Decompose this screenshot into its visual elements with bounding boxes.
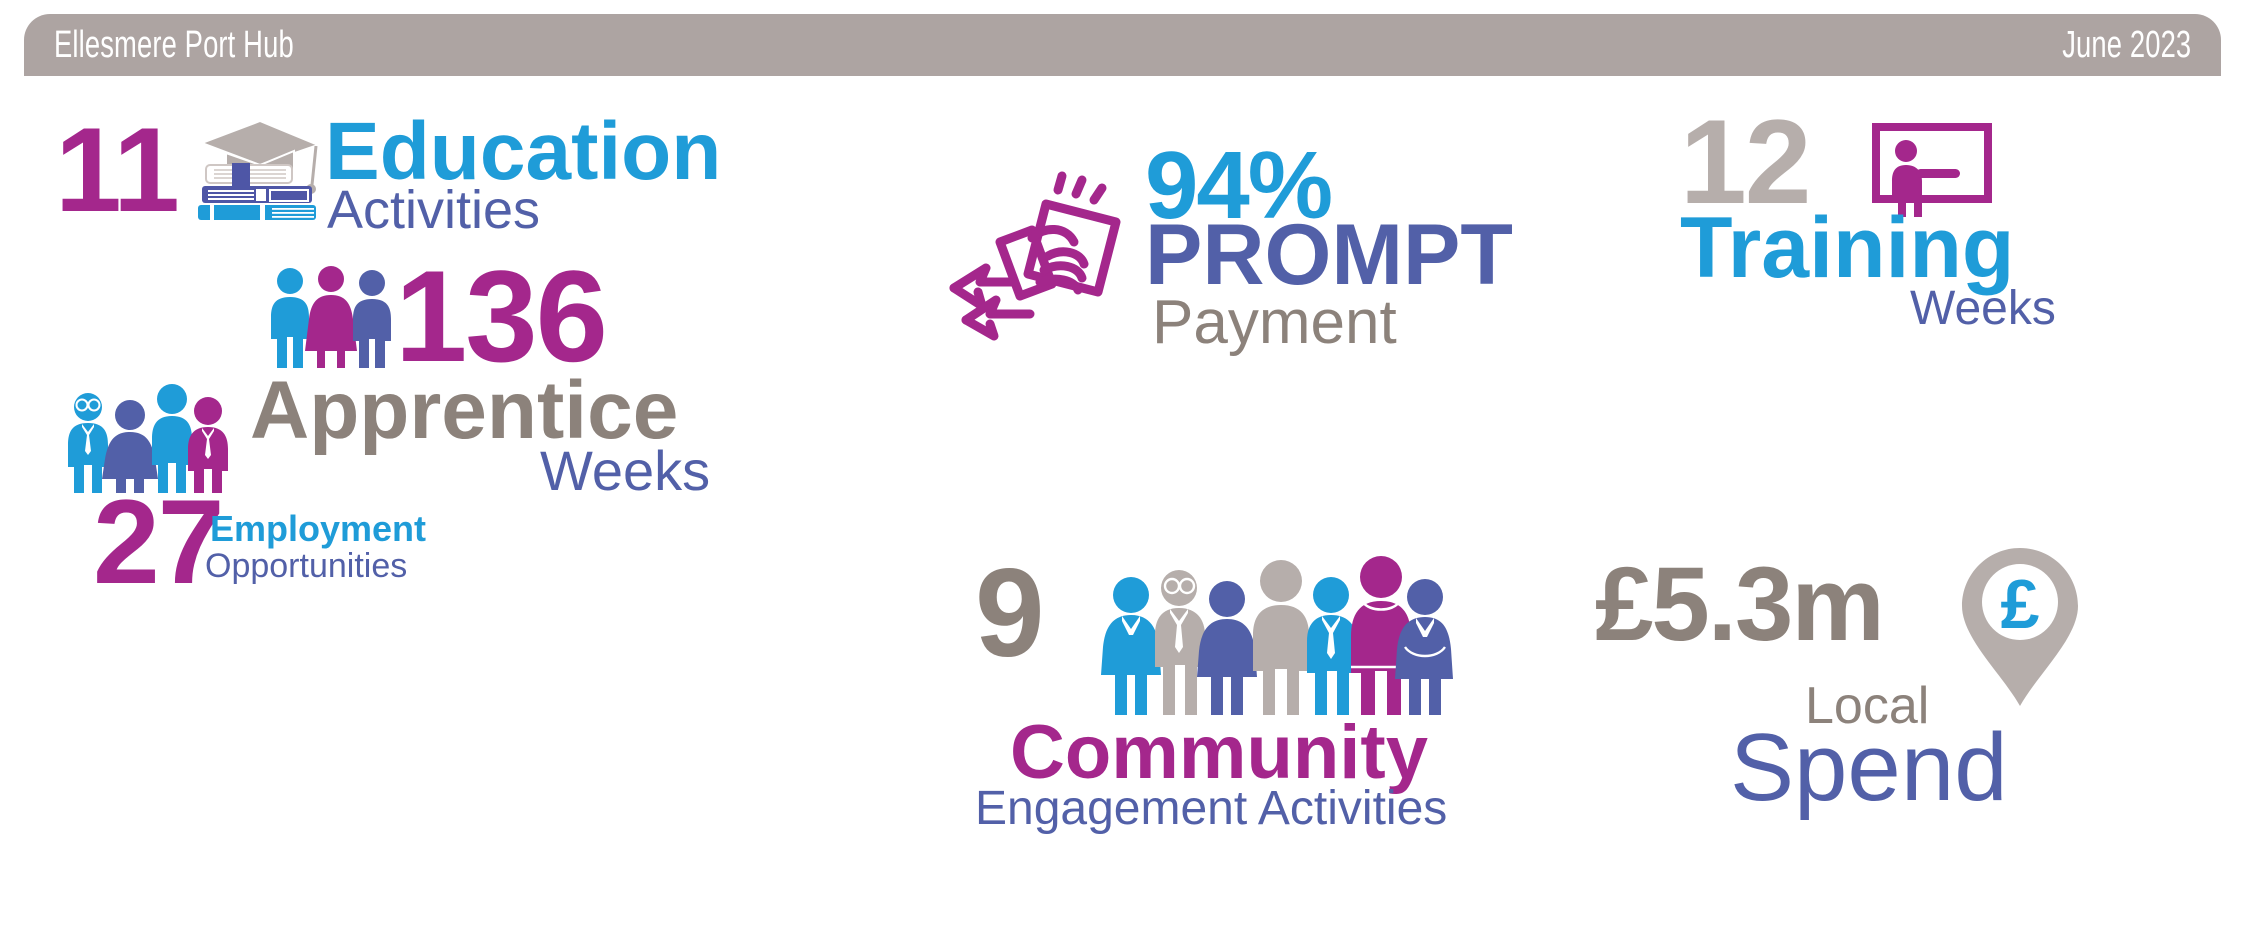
graduation-cap-books-icon: [190, 113, 325, 218]
employment-value: 27: [93, 485, 222, 599]
stat-prompt-payment: 94% PROMPT Payment: [940, 140, 1540, 410]
stat-local-spend: £5.3m £ Local Spend: [1595, 545, 2215, 805]
seven-people-icon: [1095, 555, 1445, 720]
employment-label-secondary: Opportunities: [205, 549, 407, 583]
stat-education: 11: [55, 105, 675, 245]
map-pin-pound-icon: £: [1950, 540, 2090, 715]
stat-training: 12 Training Weeks: [1680, 105, 2200, 335]
report-period: June 2023: [2062, 24, 2191, 67]
svg-text:£: £: [2001, 565, 2040, 643]
prompt-payment-label-primary: PROMPT: [1145, 212, 1513, 298]
local-spend-label-secondary: Spend: [1730, 720, 2008, 816]
header-period-wrap: June 2023: [2012, 24, 2191, 67]
education-label-secondary: Activities: [327, 183, 540, 237]
training-label-primary: Training: [1680, 205, 2014, 291]
page-title: Ellesmere Port Hub: [54, 24, 294, 67]
stat-employment: 27 Employment Opportunities: [45, 385, 525, 605]
header-bar: Ellesmere Port Hub June 2023: [24, 14, 2221, 76]
community-label-primary: Community: [1010, 715, 1428, 791]
community-value: 9: [975, 555, 1043, 674]
community-label-secondary: Engagement Activities: [975, 785, 1447, 833]
prompt-payment-label-secondary: Payment: [1152, 292, 1397, 354]
apprentice-label-secondary: Weeks: [540, 443, 710, 499]
apprentice-value: 136: [395, 255, 606, 379]
education-value: 11: [55, 113, 178, 227]
three-people-icon: [265, 265, 400, 370]
training-label-secondary: Weeks: [1910, 285, 2056, 333]
hand-cash-arrows-icon: [940, 160, 1140, 340]
stat-community: 9: [975, 545, 1595, 805]
local-spend-value: £5.3m: [1595, 555, 1883, 655]
employment-label-primary: Employment: [210, 511, 426, 547]
